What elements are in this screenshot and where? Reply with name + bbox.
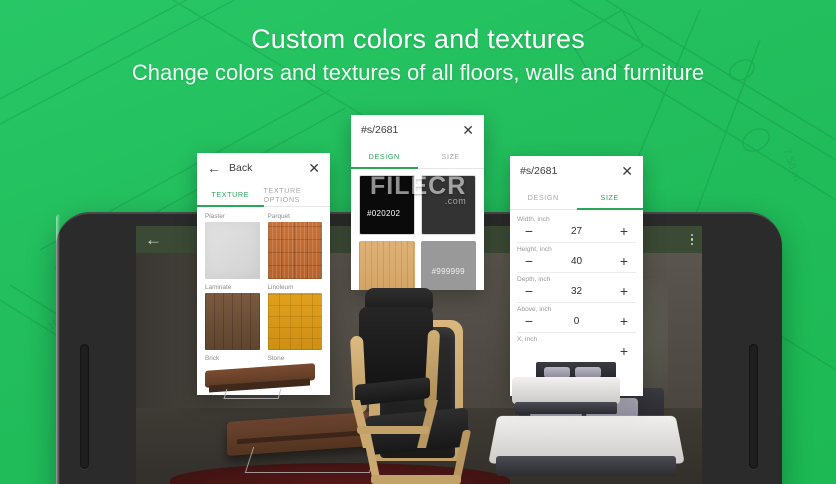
- color-swatch-gray[interactable]: #999999: [421, 241, 477, 290]
- texture-swatch-linoleum[interactable]: [268, 293, 323, 350]
- size-field-value[interactable]: 0: [574, 316, 580, 327]
- size-field-label: Depth, inch: [517, 276, 636, 283]
- size-field-x: X, inch − +: [517, 333, 636, 362]
- quantity-stepper[interactable]: − 27 +: [517, 224, 636, 238]
- size-panel[interactable]: #s/2681 ✕ DESIGN SIZE Width, inch − 27 +…: [510, 156, 643, 396]
- size-panel-tabs[interactable]: DESIGN SIZE: [510, 186, 643, 210]
- size-panel-header: #s/2681 ✕: [510, 156, 643, 186]
- color-swatch-wood[interactable]: [359, 241, 415, 290]
- quantity-stepper[interactable]: − 40 +: [517, 254, 636, 268]
- texture-panel-header: ← Back ✕: [197, 153, 330, 183]
- texture-label: Linoleum: [268, 284, 323, 291]
- close-icon[interactable]: ✕: [621, 164, 633, 178]
- armchair-stretcher: [371, 475, 461, 484]
- quantity-stepper[interactable]: − +: [517, 344, 636, 358]
- texture-label: Plaster: [205, 213, 260, 220]
- texture-panel-tabs[interactable]: TEXTURE TEXTURE OPTIONS: [197, 183, 330, 207]
- minus-icon[interactable]: −: [521, 314, 537, 328]
- size-field-label: X, inch: [517, 336, 636, 343]
- plus-icon[interactable]: +: [616, 254, 632, 268]
- texture-item-parquet[interactable]: Parquet: [268, 213, 323, 279]
- quantity-stepper[interactable]: − 0 +: [517, 314, 636, 328]
- size-panel-body: Width, inch − 27 + Height, inch − 40 + D…: [510, 210, 643, 365]
- texture-panel-back-label[interactable]: Back: [229, 162, 300, 174]
- minus-icon[interactable]: −: [521, 254, 537, 268]
- texture-grid-bottom: Brick Stone: [205, 355, 322, 362]
- texture-item-linoleum[interactable]: Linoleum: [268, 284, 323, 350]
- design-panel-header: #s/2681 ✕: [351, 115, 484, 145]
- size-field-label: Width, inch: [517, 216, 636, 223]
- texture-panel-body: Plaster Parquet Laminate Linoleum Brick …: [197, 207, 330, 368]
- bed-base: [496, 456, 675, 475]
- size-field-value[interactable]: 27: [571, 226, 582, 237]
- size-field-label: Above, inch: [517, 306, 636, 313]
- size-field-height: Height, inch − 40 +: [517, 243, 636, 273]
- texture-label: Laminate: [205, 284, 260, 291]
- size-field-value[interactable]: 40: [571, 256, 582, 267]
- blueprint-dimension-label: 7.58 m: [780, 147, 803, 183]
- texture-label-brick: Brick: [205, 355, 260, 362]
- texture-label: Parquet: [268, 213, 323, 220]
- texture-swatch-plaster[interactable]: [205, 222, 260, 279]
- quantity-stepper[interactable]: − 32 +: [517, 284, 636, 298]
- plus-icon[interactable]: +: [616, 314, 632, 328]
- size-field-value[interactable]: 32: [571, 286, 582, 297]
- tab-texture[interactable]: TEXTURE: [197, 183, 264, 206]
- size-field-depth: Depth, inch − 32 +: [517, 273, 636, 303]
- color-swatch-black[interactable]: #020202: [359, 175, 415, 235]
- tab-texture-options[interactable]: TEXTURE OPTIONS: [264, 183, 331, 206]
- close-icon[interactable]: ✕: [462, 123, 474, 137]
- bed-overlay-image: [512, 362, 620, 414]
- color-hex-label: #020202: [367, 209, 400, 218]
- minus-icon[interactable]: −: [521, 224, 537, 238]
- size-panel-title: #s/2681: [520, 165, 613, 177]
- design-panel[interactable]: #s/2681 ✕ DESIGN SIZE #020202 #999999: [351, 115, 484, 290]
- design-panel-tabs[interactable]: DESIGN SIZE: [351, 145, 484, 169]
- color-swatch-grid: #020202 #999999: [359, 175, 476, 290]
- speaker-grille-left: [80, 344, 89, 469]
- plus-icon[interactable]: +: [616, 284, 632, 298]
- color-swatch-darkgray[interactable]: [421, 175, 477, 235]
- table-overlay-image: [205, 367, 315, 399]
- tab-design[interactable]: DESIGN: [510, 186, 577, 209]
- back-arrow-icon[interactable]: ←: [145, 231, 162, 248]
- tab-design[interactable]: DESIGN: [351, 145, 418, 168]
- furniture-table-legs: [245, 447, 378, 473]
- size-field-label: Height, inch: [517, 246, 636, 253]
- plus-icon[interactable]: +: [616, 344, 632, 358]
- back-arrow-icon[interactable]: ←: [207, 161, 221, 175]
- design-panel-body: #020202 #999999: [351, 169, 484, 290]
- speaker-grille-right: [749, 344, 758, 469]
- texture-label-stone: Stone: [268, 355, 323, 362]
- texture-item-plaster[interactable]: Plaster: [205, 213, 260, 279]
- tab-size[interactable]: SIZE: [418, 145, 485, 168]
- close-icon[interactable]: ✕: [308, 161, 320, 175]
- texture-swatch-laminate[interactable]: [205, 293, 260, 350]
- armchair-overlay-image: [348, 288, 440, 448]
- overflow-menu-icon[interactable]: [691, 234, 694, 246]
- size-field-above: Above, inch − 0 +: [517, 303, 636, 333]
- texture-panel[interactable]: ← Back ✕ TEXTURE TEXTURE OPTIONS Plaster…: [197, 153, 330, 395]
- design-panel-title: #s/2681: [361, 124, 454, 136]
- texture-swatch-parquet[interactable]: [268, 222, 323, 279]
- minus-icon[interactable]: −: [521, 284, 537, 298]
- texture-item-laminate[interactable]: Laminate: [205, 284, 260, 350]
- color-hex-label: #999999: [432, 267, 465, 276]
- texture-grid: Plaster Parquet Laminate Linoleum: [205, 213, 322, 350]
- size-field-width: Width, inch − 27 +: [517, 213, 636, 243]
- tab-size[interactable]: SIZE: [577, 186, 644, 209]
- plus-icon[interactable]: +: [616, 224, 632, 238]
